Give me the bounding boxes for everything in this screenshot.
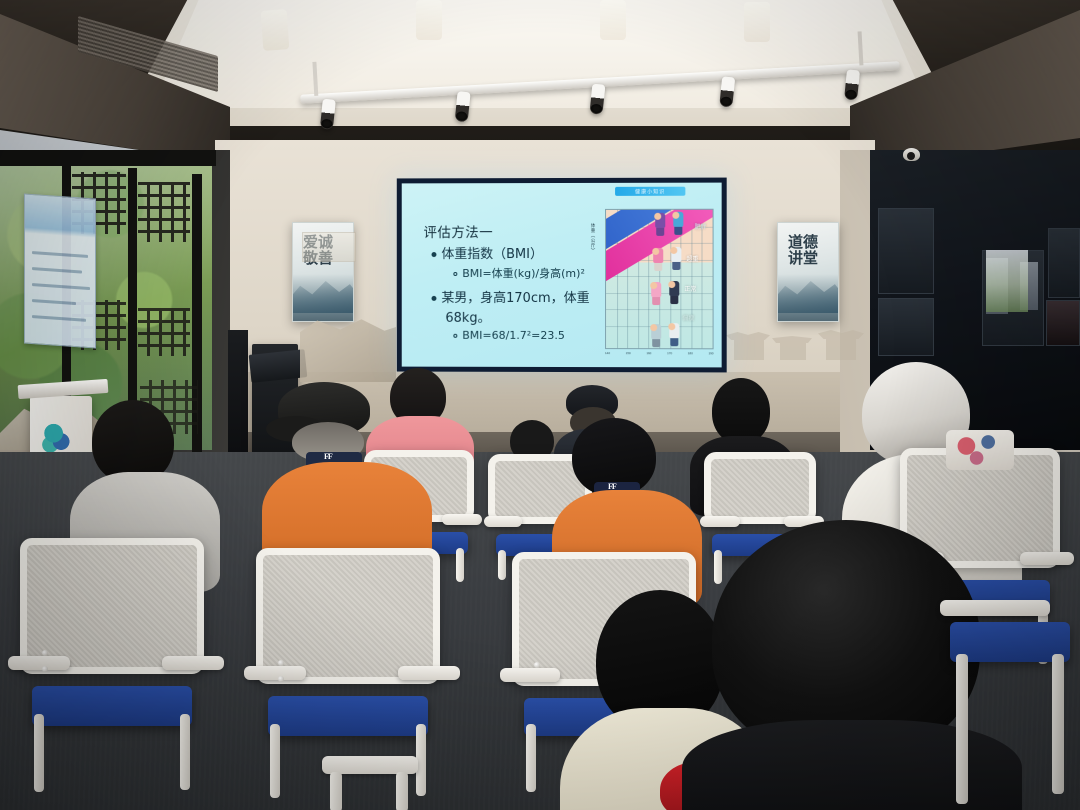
notice-line-1 bbox=[32, 251, 88, 258]
chair-back bbox=[704, 452, 816, 524]
chair-leg-left bbox=[714, 550, 722, 584]
chair-arm-right bbox=[162, 656, 224, 670]
chair-leg-2 bbox=[1052, 654, 1064, 794]
av-equipment-lid bbox=[249, 349, 308, 383]
chart-figure-overweight-male bbox=[670, 247, 682, 270]
slide-bullet-3-text: 某男，身高170cm，体重 bbox=[441, 291, 589, 306]
chair-leg bbox=[330, 772, 342, 810]
chair-seat bbox=[268, 696, 428, 736]
chair-leg-right bbox=[456, 548, 464, 582]
notice-board[interactable] bbox=[24, 193, 96, 348]
slide-badge-label: 健康小知识 bbox=[635, 188, 665, 195]
chair-arm-left bbox=[500, 668, 560, 682]
chart-band-label-thin: 偏瘦 bbox=[682, 313, 694, 322]
pavilion-wall-3 bbox=[826, 338, 856, 360]
chart-xtick: 160 bbox=[646, 351, 651, 361]
slide-badge: 健康小知识 bbox=[615, 187, 685, 196]
notice-line-3 bbox=[32, 283, 90, 290]
slide-content: 健康小知识 评估方法一 体重指数（BMI） BMI=体重(kg)/身高(m)² … bbox=[402, 183, 722, 368]
banner-right-text: 道德讲堂 bbox=[788, 235, 828, 267]
chair-arm-left bbox=[484, 516, 522, 527]
chart-xtick: 190 bbox=[709, 351, 714, 361]
shelf-cell-1 bbox=[878, 208, 934, 294]
chart-band-label-overweight: 超重 bbox=[686, 254, 698, 263]
chair-bolt-1 bbox=[42, 650, 48, 656]
wall-banner-right: 道德讲堂 bbox=[777, 222, 839, 322]
chart-ylabel: 体重（公斤） bbox=[589, 223, 595, 253]
chair-arm-right bbox=[442, 514, 482, 525]
slide-bullet-4: 68kg。 bbox=[445, 307, 490, 326]
notice-line-2 bbox=[32, 267, 82, 273]
lattice-panel-upper-2 bbox=[138, 182, 190, 242]
recessed-light-1 bbox=[261, 9, 290, 51]
chair-bolt-1 bbox=[278, 660, 284, 666]
shelf-cell-2 bbox=[878, 298, 934, 356]
chair-arm bbox=[940, 600, 1050, 616]
chart-xtick: 170 bbox=[667, 351, 672, 361]
slide-title: 评估方法一 bbox=[424, 221, 494, 241]
chart-xtick: 150 bbox=[626, 351, 631, 361]
chair-bolt-2 bbox=[278, 676, 284, 682]
chart-figure-thin-male bbox=[668, 323, 680, 346]
bullet-dot-icon-2 bbox=[431, 296, 436, 301]
slide-bullet-4-text: 68kg。 bbox=[445, 311, 490, 326]
notice-line-4 bbox=[32, 299, 76, 305]
chair-arm-left bbox=[700, 516, 740, 527]
brand-logo: FF bbox=[324, 452, 332, 461]
slide-bullet-5-text: BMI=68/1.7²=23.5 bbox=[462, 329, 565, 342]
bullet-dot-icon bbox=[431, 252, 436, 257]
slide-bullet-1-text: 体重指数（BMI） bbox=[441, 247, 543, 262]
recessed-light-2 bbox=[416, 0, 442, 40]
shelf-cell-4 bbox=[1048, 228, 1080, 298]
chart-figure-thin-female bbox=[650, 324, 662, 347]
chart-figure-obese-female bbox=[654, 213, 666, 236]
chair-leg-right bbox=[180, 714, 190, 790]
slide-bullet-2-text: BMI=体重(kg)/身高(m)² bbox=[462, 267, 585, 280]
chart-figure-normal-male bbox=[668, 281, 680, 304]
projection-screen: 健康小知识 评估方法一 体重指数（BMI） BMI=体重(kg)/身高(m)² … bbox=[397, 178, 727, 373]
chair-arm-right bbox=[1020, 552, 1074, 565]
chart-figure-overweight-female bbox=[652, 248, 664, 271]
chair-arm-left bbox=[8, 656, 70, 670]
recessed-light-4 bbox=[744, 2, 770, 42]
chair-leg-2 bbox=[396, 772, 408, 810]
wall-plaque bbox=[302, 232, 356, 262]
notice-line-5 bbox=[32, 315, 86, 322]
chart-xtick: 140 bbox=[605, 351, 610, 361]
podium-logo bbox=[40, 418, 74, 456]
chart-xaxis-ticks: 140 150 160 170 180 190 bbox=[605, 351, 714, 361]
chair-leg-left bbox=[498, 550, 506, 580]
chart-band-label-normal: 正常 bbox=[684, 284, 696, 293]
pavilion-wall-2 bbox=[780, 342, 806, 360]
chart-gridline-v bbox=[691, 210, 692, 348]
bullet-ring-icon bbox=[453, 272, 457, 276]
security-camera-icon bbox=[903, 148, 920, 161]
window-mullion-top bbox=[0, 150, 216, 166]
chart-figure-normal-female bbox=[650, 282, 662, 305]
head bbox=[712, 378, 770, 444]
chair-leg-left bbox=[526, 724, 536, 792]
chair-arm-right bbox=[398, 666, 460, 680]
chair-bolt-2 bbox=[42, 666, 48, 672]
floral-bag-on-chair bbox=[946, 430, 1014, 470]
chair-foreground-right[interactable] bbox=[940, 600, 1080, 810]
chair-foreground-bottom-left[interactable] bbox=[322, 756, 442, 810]
chair-row2-left[interactable] bbox=[20, 538, 204, 788]
shelf-artifact-display bbox=[1046, 300, 1080, 346]
bmi-chart: 体重（公斤） bbox=[589, 205, 714, 364]
chart-gridline-h bbox=[606, 276, 713, 277]
slide-bullet-5: BMI=68/1.7²=23.5 bbox=[453, 329, 564, 342]
slide-bullet-3: 某男，身高170cm，体重 bbox=[431, 287, 589, 306]
meeting-room-photo: 爱诚敬善 道德讲堂 健康小知识 评估方法一 bbox=[0, 0, 1080, 810]
chair-leg-left bbox=[270, 724, 280, 798]
window-right bbox=[986, 250, 1028, 312]
bullet-ring-icon-2 bbox=[453, 334, 457, 338]
chart-figure-obese-male bbox=[672, 212, 684, 235]
chair-bolt-1 bbox=[534, 662, 540, 668]
chart-plot-area: 肥胖 超重 正常 偏瘦 bbox=[605, 209, 714, 350]
chart-gridline-h bbox=[606, 309, 713, 310]
chair-leg bbox=[956, 654, 968, 804]
pavilion-relief bbox=[726, 318, 878, 360]
chart-band-label-obese: 肥胖 bbox=[694, 222, 706, 231]
slide-bullet-2: BMI=体重(kg)/身高(m)² bbox=[453, 265, 585, 281]
pavilion-wall-1 bbox=[734, 338, 764, 360]
chair-arm-left bbox=[244, 666, 306, 680]
chart-xtick: 180 bbox=[688, 351, 693, 361]
chair-seat bbox=[32, 686, 192, 726]
slide-bullet-1: 体重指数（BMI） bbox=[431, 243, 543, 262]
lattice-panel-lower-2 bbox=[138, 308, 190, 356]
chair-leg-left bbox=[34, 714, 44, 792]
recessed-light-3 bbox=[600, 0, 626, 40]
